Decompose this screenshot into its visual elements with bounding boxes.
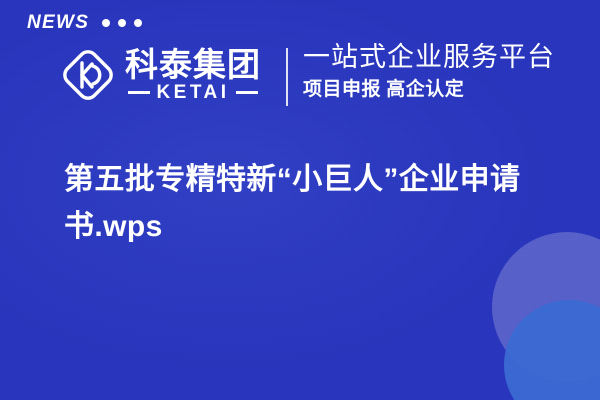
brand-name-en-row: KETAI <box>125 83 261 102</box>
brand-names: 科泰集团 KETAI <box>125 48 261 102</box>
news-banner: NEWS 科泰集团 KETAI <box>0 0 600 400</box>
news-dot-icon <box>134 19 142 27</box>
headline-title: 第五批专精特新“小巨人”企业申请书.wps <box>64 157 569 250</box>
decorative-circle-lilac <box>492 232 600 382</box>
tagline-block: 一站式企业服务平台 项目申报 高企认定 <box>303 42 555 102</box>
ketai-diamond-kd-logo-icon <box>57 44 119 106</box>
news-dots-icon <box>102 19 142 27</box>
brand-name-en: KETAI <box>156 83 229 102</box>
news-label: NEWS <box>27 13 89 32</box>
brand-name-cn: 科泰集团 <box>125 48 261 82</box>
news-dot-icon <box>118 19 126 27</box>
brand-lockup: 科泰集团 KETAI <box>57 44 261 106</box>
brand-rule-left-icon <box>128 91 150 94</box>
tagline-secondary: 项目申报 高企认定 <box>303 79 555 102</box>
news-badge: NEWS <box>27 13 142 32</box>
brand-rule-right-icon <box>236 91 258 94</box>
brand-divider <box>286 48 288 106</box>
news-dot-icon <box>102 19 110 27</box>
tagline-primary: 一站式企业服务平台 <box>303 42 555 74</box>
decorative-circle-azure <box>504 300 600 400</box>
